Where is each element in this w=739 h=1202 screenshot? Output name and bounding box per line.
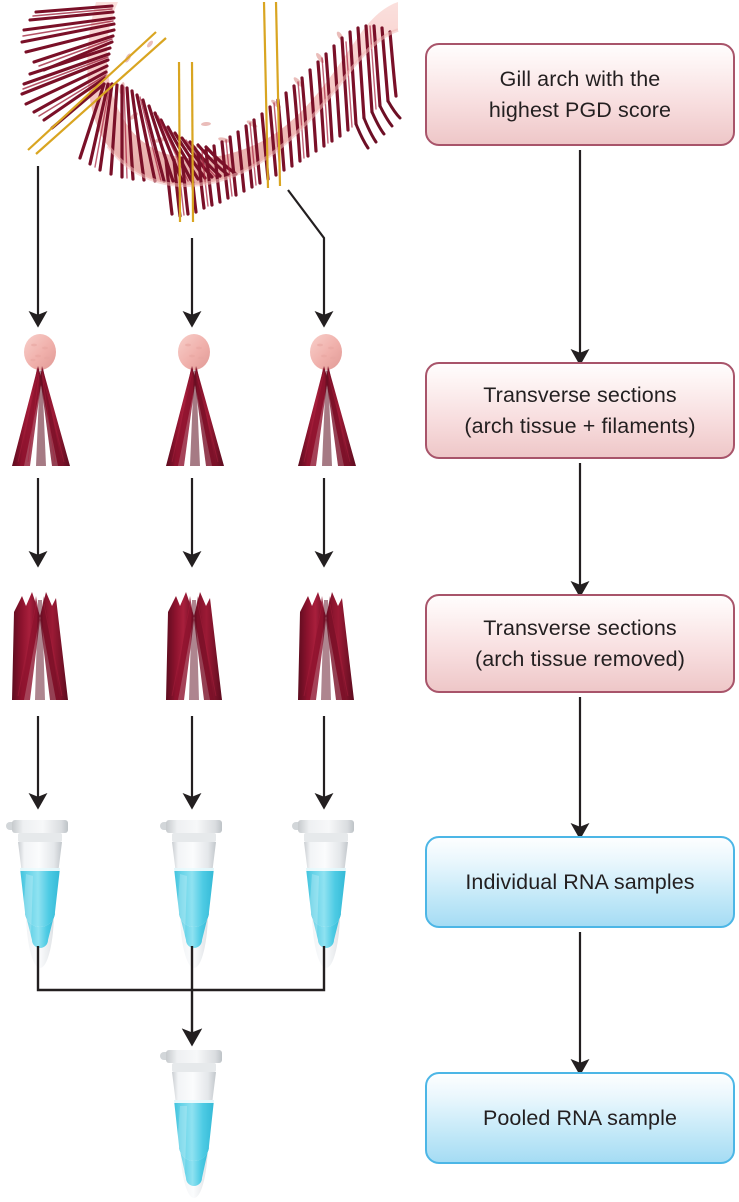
transverse-section-arch-removed [12,592,68,700]
flowbox-transverse-arch-removed-label: Transverse sections (arch tissue removed… [465,613,695,675]
rna-sample-tube [6,820,68,968]
flowbox-pooled-rna-sample-label: Pooled RNA sample [473,1103,687,1134]
transverse-sections-arch-removed-row [12,592,354,700]
flowbox-transverse-with-filaments[interactable]: Transverse sections (arch tissue + filam… [425,362,735,459]
flowbox-transverse-arch-removed[interactable]: Transverse sections (arch tissue removed… [425,594,735,693]
gill-arch-illustration [18,2,400,222]
flowbox-gill-arch-label: Gill arch with the highest PGD score [479,64,681,126]
transverse-sections-with-arch-tissue-row [12,334,356,466]
arch-tissue-blob [24,334,56,370]
flowbox-gill-arch[interactable]: Gill arch with the highest PGD score [425,43,735,146]
flowbox-individual-rna-samples-label: Individual RNA samples [455,867,704,898]
flowbox-individual-rna-samples[interactable]: Individual RNA samples [425,836,735,928]
arrow-group-stripped-to-tubes [38,716,324,800]
arch-tissue-blob [178,334,210,370]
arch-tissue-blob [310,334,342,370]
transverse-section-with-arch-tissue [12,334,70,466]
flowbox-pooled-rna-sample[interactable]: Pooled RNA sample [425,1072,735,1164]
transverse-section-arch-removed [166,592,222,700]
rna-sample-tubes-row [6,820,354,968]
figure-canvas: Gill arch with the highest PGD score Tra… [0,0,739,1202]
arrow-arch-to-section-3 [288,190,324,318]
transverse-section-with-arch-tissue [298,334,356,466]
rna-sample-tube [292,820,354,968]
rna-sample-tube [160,820,222,968]
transverse-section-with-arch-tissue [166,334,224,466]
pooling-connector [38,946,324,1036]
transverse-section-arch-removed [298,592,354,700]
arrow-group-sections-to-stripped [38,478,324,558]
flowbox-transverse-with-filaments-label: Transverse sections (arch tissue + filam… [454,380,705,442]
pooled-rna-sample-tube [160,1050,222,1198]
